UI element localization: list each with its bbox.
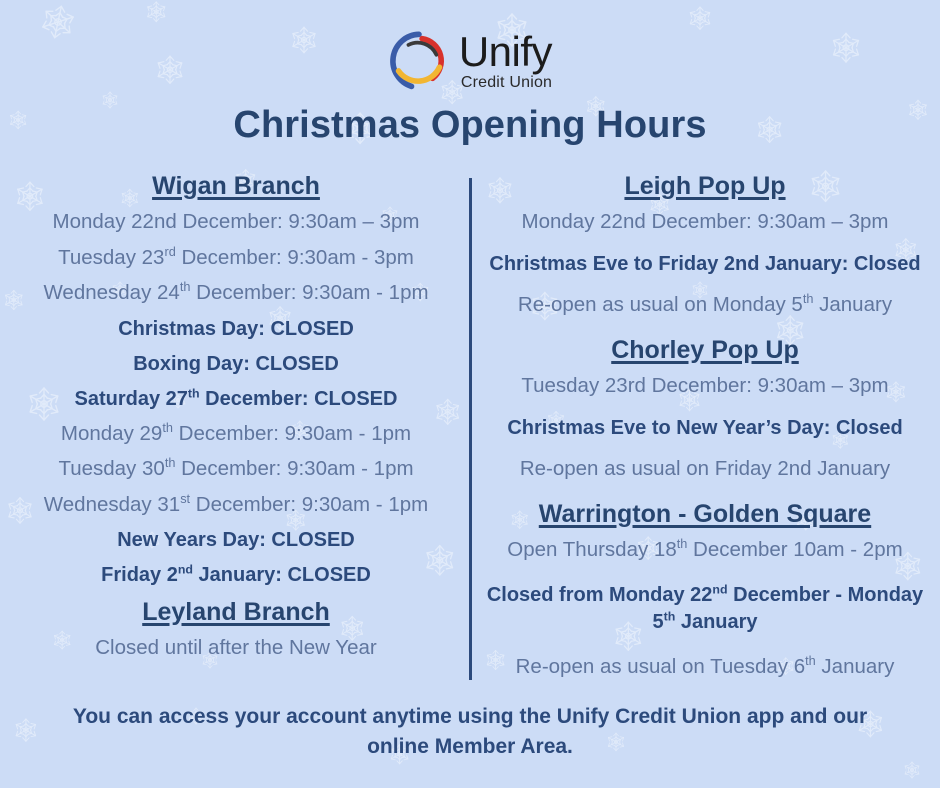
ordinal-suffix: th [805,653,816,668]
section-heading-leigh-pop-up: Leigh Pop Up [482,172,928,201]
hours-text: Re-open as usual on Friday 2nd January [520,457,890,480]
hours-text: Closed from Monday 22 [487,584,713,606]
section-heading-warrington-golden-square: Warrington - Golden Square [482,500,928,529]
footer-note: You can access your account anytime usin… [60,702,880,762]
hours-text: Saturday 27 [75,388,188,410]
hours-line: Monday 29th December: 9:30am - 1pm [14,416,458,452]
ordinal-suffix: th [180,279,191,294]
hours-text: Wednesday 24 [43,281,179,304]
hours-text: New Years Day: CLOSED [117,529,355,551]
hours-text: Christmas Eve to Friday 2nd January: Clo… [489,253,920,275]
hours-text: Monday 22nd December: 9:30am – 3pm [522,210,889,233]
ordinal-suffix: rd [164,244,175,259]
ordinal-suffix: th [165,455,176,470]
hours-line: Re-open as usual on Friday 2nd January [482,451,928,487]
hours-line: Monday 22nd December: 9:30am – 3pm [482,204,928,240]
ordinal-suffix: nd [712,582,727,596]
hours-line-closed: New Years Day: CLOSED [14,522,458,557]
section-heading-chorley-pop-up: Chorley Pop Up [482,336,928,365]
ordinal-suffix: st [180,491,190,506]
hours-line-closed: Christmas Eve to New Year’s Day: Closed [482,410,928,445]
hours-text: Boxing Day: CLOSED [133,353,339,375]
hours-text: December: 9:30am - 1pm [173,422,411,445]
hours-text: December 10am - 2pm [687,538,902,561]
hours-text: January [813,293,892,316]
hours-text: Monday 22nd December: 9:30am – 3pm [53,210,420,233]
hours-line: Tuesday 30th December: 9:30am - 1pm [14,451,458,487]
hours-text: December: 9:30am - 3pm [176,246,414,269]
hours-line-closed: Boxing Day: CLOSED [14,346,458,381]
hours-line: Monday 22nd December: 9:30am – 3pm [14,204,458,240]
ordinal-suffix: th [664,609,676,623]
brand-tagline: Credit Union [461,75,552,91]
hours-line: Tuesday 23rd December: 9:30am – 3pm [482,368,928,404]
hours-text: Christmas Eve to New Year’s Day: Closed [507,417,902,439]
section-heading-wigan-branch: Wigan Branch [14,172,458,201]
hours-text: Re-open as usual on Monday 5 [518,293,803,316]
hours-text: December: CLOSED [200,388,398,410]
page-title: Christmas Opening Hours [0,104,940,147]
opening-hours-columns: Wigan Branch Monday 22nd December: 9:30a… [0,172,940,684]
right-column: Leigh Pop Up Monday 22nd December: 9:30a… [482,172,928,684]
hours-text: Tuesday 30 [58,457,164,480]
hours-text: Tuesday 23rd December: 9:30am – 3pm [521,374,888,397]
hours-line: Wednesday 24th December: 9:30am - 1pm [14,275,458,311]
hours-text: December: 9:30am - 1pm [175,457,413,480]
hours-text: January [675,611,757,633]
hours-text: Monday 29 [61,422,162,445]
hours-text: December: 9:30am - 1pm [190,493,428,516]
hours-text: Wednesday 31 [44,493,180,516]
ordinal-suffix: nd [178,562,193,576]
hours-line: Open Thursday 18th December 10am - 2pm [482,532,928,568]
ordinal-suffix: th [677,536,688,551]
hours-text: Re-open as usual on Tuesday 6 [516,655,805,678]
hours-text: January: CLOSED [193,564,371,586]
hours-text: Christmas Day: CLOSED [118,318,354,340]
spacer [482,322,928,336]
unify-ring-logo-icon [388,30,450,92]
hours-line-closed: Closed from Monday 22nd December - Monda… [482,574,928,643]
hours-line: Tuesday 23rd December: 9:30am - 3pm [14,240,458,276]
brand-logo: Unify Credit Union [0,22,940,100]
spacer [482,486,928,500]
hours-text: Closed until after the New Year [95,636,376,659]
hours-text: December: 9:30am - 1pm [190,281,428,304]
brand-name: Unify [459,31,552,72]
hours-line-closed: Saturday 27th December: CLOSED [14,381,458,416]
hours-line-closed: Christmas Eve to Friday 2nd January: Clo… [482,246,928,281]
ordinal-suffix: th [188,386,200,400]
ordinal-suffix: th [803,291,814,306]
hours-text: Open Thursday 18 [507,538,676,561]
hours-text: January [816,655,895,678]
hours-line: Wednesday 31st December: 9:30am - 1pm [14,487,458,523]
section-heading-leyland-branch: Leyland Branch [14,598,458,627]
ordinal-suffix: th [162,420,173,435]
hours-line: Re-open as usual on Tuesday 6th January [482,649,928,685]
hours-text: Tuesday 23 [58,246,164,269]
hours-line-closed: Christmas Day: CLOSED [14,311,458,346]
hours-text: Friday 2 [101,564,178,586]
hours-line: Re-open as usual on Monday 5th January [482,287,928,323]
hours-line: Closed until after the New Year [14,630,458,666]
hours-line-closed: Friday 2nd January: CLOSED [14,557,458,592]
left-column: Wigan Branch Monday 22nd December: 9:30a… [14,172,458,666]
column-divider [469,178,472,680]
